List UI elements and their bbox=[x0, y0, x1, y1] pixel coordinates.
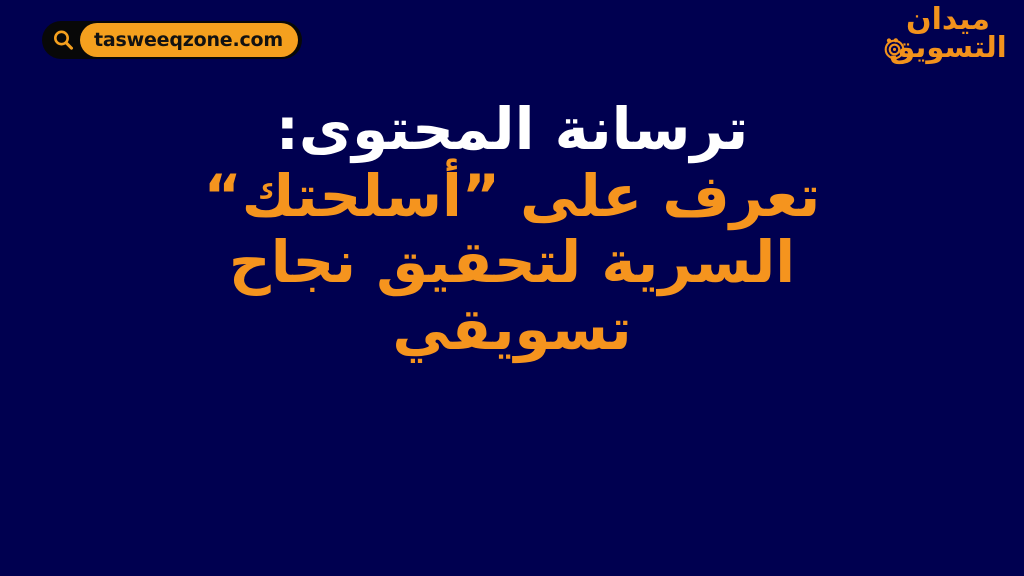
website-pill[interactable]: tasweeqzone.com bbox=[80, 23, 298, 57]
website-badge[interactable]: tasweeqzone.com bbox=[42, 21, 302, 59]
headline-line-1: ترسانة المحتوى: bbox=[0, 96, 1024, 163]
brand-logo: ميدان التسويق bbox=[882, 6, 1014, 60]
search-icon bbox=[48, 25, 78, 55]
headline-line-4: تسويقي bbox=[0, 296, 1024, 363]
headline-block: ترسانة المحتوى: تعرف على ”أسلحتك“ السرية… bbox=[0, 96, 1024, 363]
poster-canvas: tasweeqzone.com ميدان التسويق ترسانة الم… bbox=[0, 0, 1024, 576]
target-spiral-icon bbox=[884, 38, 905, 59]
brand-logo-line-2-wrap: التسويق bbox=[882, 34, 1014, 61]
headline-line-2: تعرف على ”أسلحتك“ bbox=[0, 163, 1024, 230]
website-label: tasweeqzone.com bbox=[94, 31, 283, 50]
brand-logo-line-2: التسويق bbox=[889, 30, 1006, 64]
headline-line-3: السرية لتحقيق نجاح bbox=[0, 229, 1024, 296]
